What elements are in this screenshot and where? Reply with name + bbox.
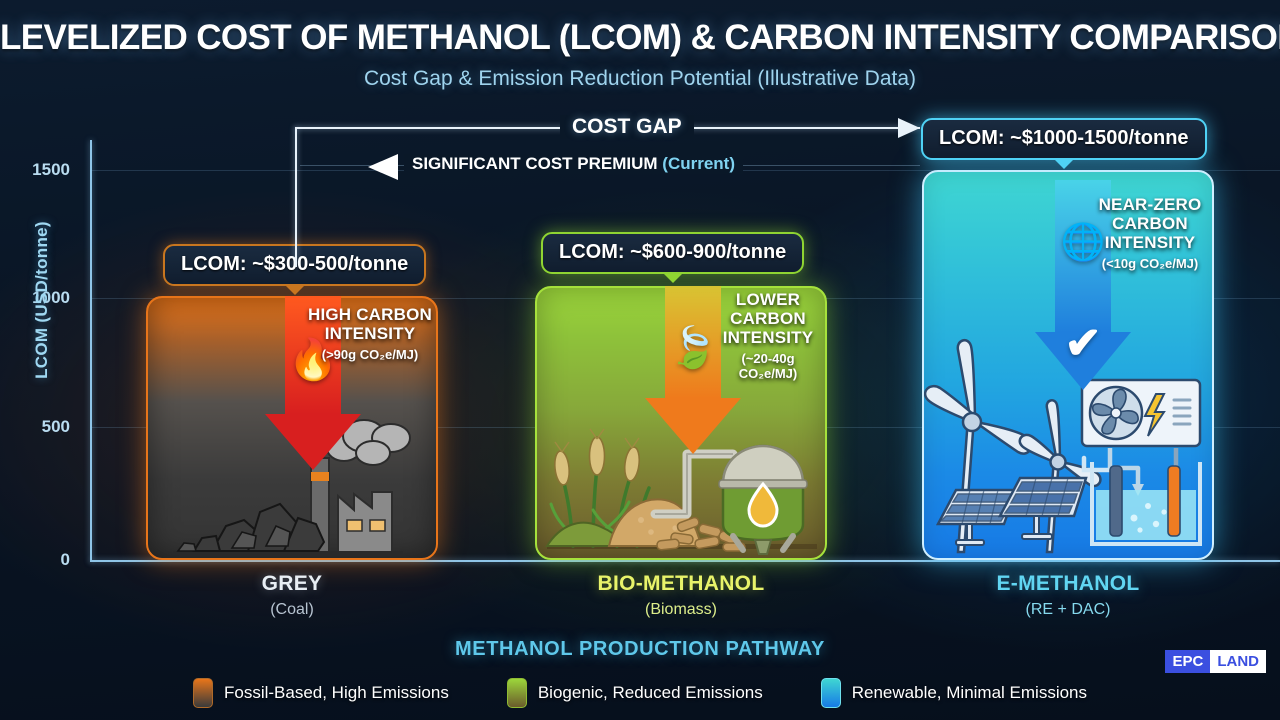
logo-part-land: LAND <box>1210 650 1266 673</box>
y-tick-1500: 1500 <box>10 160 70 180</box>
intensity-value-grey: (>90g CO₂e/MJ) <box>305 347 435 362</box>
intensity-note-grey: HIGH CARBON INTENSITY (>90g CO₂e/MJ) <box>305 305 435 362</box>
y-tick-500: 500 <box>10 417 70 437</box>
x-axis <box>90 560 1280 562</box>
category-label-bio: BIO-METHANOL (Biomass) <box>535 572 827 619</box>
cost-gap-label: COST GAP <box>560 115 694 139</box>
check-icon: ✔ <box>1035 322 1131 366</box>
legend-swatch-renewable <box>821 678 841 708</box>
category-name: BIO-METHANOL <box>535 572 827 596</box>
lcom-callout-emeth[interactable]: LCOM: ~$1000-1500/tonne <box>921 118 1207 160</box>
intensity-headline-bio: LOWER CARBON INTENSITY <box>712 290 824 347</box>
category-label-grey: GREY (Coal) <box>146 572 438 619</box>
logo-part-epc: EPC <box>1165 650 1210 673</box>
intensity-value-bio: (~20-40g CO₂e/MJ) <box>712 351 824 381</box>
y-tick-0: 0 <box>10 550 70 570</box>
logo-epc-land[interactable]: EPC LAND <box>1165 650 1266 673</box>
legend: Fossil-Based, High Emissions Biogenic, R… <box>0 678 1280 708</box>
arrow-head <box>645 398 741 454</box>
legend-label-fossil: Fossil-Based, High Emissions <box>224 683 449 703</box>
category-label-emeth: E-METHANOL (RE + DAC) <box>922 572 1214 619</box>
intensity-value-emeth: (<10g CO₂e/MJ) <box>1090 256 1210 271</box>
legend-item-fossil[interactable]: Fossil-Based, High Emissions <box>193 678 449 708</box>
x-axis-label: METHANOL PRODUCTION PATHWAY <box>0 638 1280 661</box>
cost-gap-arrowhead-icon <box>898 118 920 138</box>
legend-label-renewable: Renewable, Minimal Emissions <box>852 683 1087 703</box>
lcom-callout-bio[interactable]: LCOM: ~$600-900/tonne <box>541 232 804 274</box>
arrow-head <box>265 414 361 470</box>
category-sub: (Biomass) <box>535 601 827 619</box>
premium-label: SIGNIFICANT COST PREMIUM (Current) <box>404 154 743 174</box>
legend-item-biogenic[interactable]: Biogenic, Reduced Emissions <box>507 678 763 708</box>
intensity-note-emeth: NEAR-ZERO CARBON INTENSITY (<10g CO₂e/MJ… <box>1090 195 1210 271</box>
legend-item-renewable[interactable]: Renewable, Minimal Emissions <box>821 678 1087 708</box>
premium-current: (Current) <box>662 154 735 173</box>
legend-swatch-biogenic <box>507 678 527 708</box>
premium-text: SIGNIFICANT COST PREMIUM <box>412 154 662 173</box>
chart-area: 1500 1000 500 0 LCOM (USD/tonne) <box>0 0 1280 720</box>
intensity-note-bio: LOWER CARBON INTENSITY (~20-40g CO₂e/MJ) <box>712 290 824 381</box>
y-axis <box>90 140 92 562</box>
intensity-headline-grey: HIGH CARBON INTENSITY <box>305 305 435 343</box>
category-name: E-METHANOL <box>922 572 1214 596</box>
category-sub: (Coal) <box>146 601 438 619</box>
category-sub: (RE + DAC) <box>922 601 1214 619</box>
intensity-headline-emeth: NEAR-ZERO CARBON INTENSITY <box>1090 195 1210 252</box>
premium-arrow-icon <box>368 154 398 180</box>
y-axis-label: LCOM (USD/tonne) <box>32 200 52 400</box>
cost-gap-connector <box>295 127 297 267</box>
legend-swatch-fossil <box>193 678 213 708</box>
legend-label-biogenic: Biogenic, Reduced Emissions <box>538 683 763 703</box>
category-name: GREY <box>146 572 438 596</box>
